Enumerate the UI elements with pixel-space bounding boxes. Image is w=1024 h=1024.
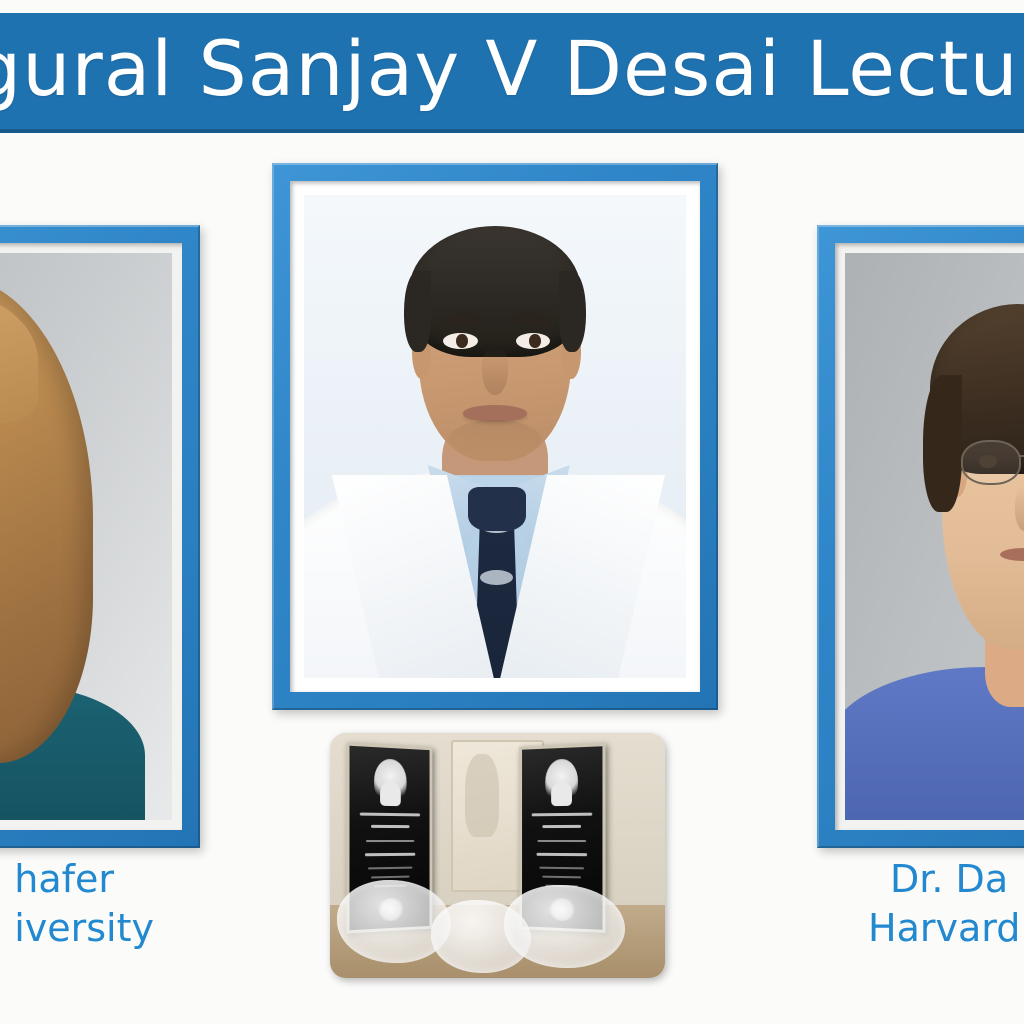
caption-left: hafer iversity (0, 855, 156, 952)
plaque-text-line-title-right (531, 813, 592, 817)
bubble-wrap-right (504, 885, 625, 968)
title-banner: gural Sanjay V Desai Lectur (0, 13, 1024, 133)
portrait-photo-right (845, 253, 1024, 820)
plaque-text-line-body2-left (371, 876, 409, 879)
portrait-photo-center (304, 195, 686, 678)
page-title: gural Sanjay V Desai Lectur (0, 31, 1024, 107)
caption-left-institution: iversity (0, 904, 154, 953)
portrait-photo-left (0, 253, 172, 820)
plaque-engraved-portrait-right (545, 758, 577, 804)
caption-right: Dr. Da Harvard (868, 855, 1020, 952)
portrait-frame-center (272, 163, 718, 710)
portrait-frame-left (0, 225, 200, 848)
plaque-text-line-body1-left (368, 867, 413, 870)
caption-left-name: hafer (0, 855, 114, 904)
eyeglasses-lens-left (961, 440, 1022, 485)
hair-shape-center (409, 226, 581, 356)
plaque-text-line-body1-right (539, 867, 584, 870)
plaque-text-line-year-left (366, 840, 414, 842)
plaque-text-line-subtitle-right (542, 826, 581, 829)
plaque-text-line-recipient-left (364, 853, 415, 856)
necktie-knot (468, 487, 525, 530)
plaque-text-line-title-left (359, 813, 420, 817)
plaque-text-line-recipient-right (536, 853, 588, 856)
frame-mat-right (835, 243, 1024, 830)
caption-right-name: Dr. Da (890, 855, 1020, 904)
plaque-text-line-body2-right (542, 876, 581, 879)
plaque-text-line-subtitle-left (371, 826, 409, 829)
eyeglasses-bridge (1020, 455, 1024, 458)
eye-left-center (443, 333, 477, 349)
frame-mat-center (290, 181, 700, 692)
portrait-frame-right (817, 225, 1024, 848)
frame-mat-left (0, 243, 182, 830)
nose-right (1015, 485, 1024, 530)
caption-right-institution: Harvard (868, 904, 1020, 953)
chin-shade-center (449, 420, 541, 459)
plaque-engraved-portrait-left (374, 758, 406, 804)
award-plaques-photo (330, 733, 665, 978)
plaque-text-line-year-right (537, 840, 585, 842)
